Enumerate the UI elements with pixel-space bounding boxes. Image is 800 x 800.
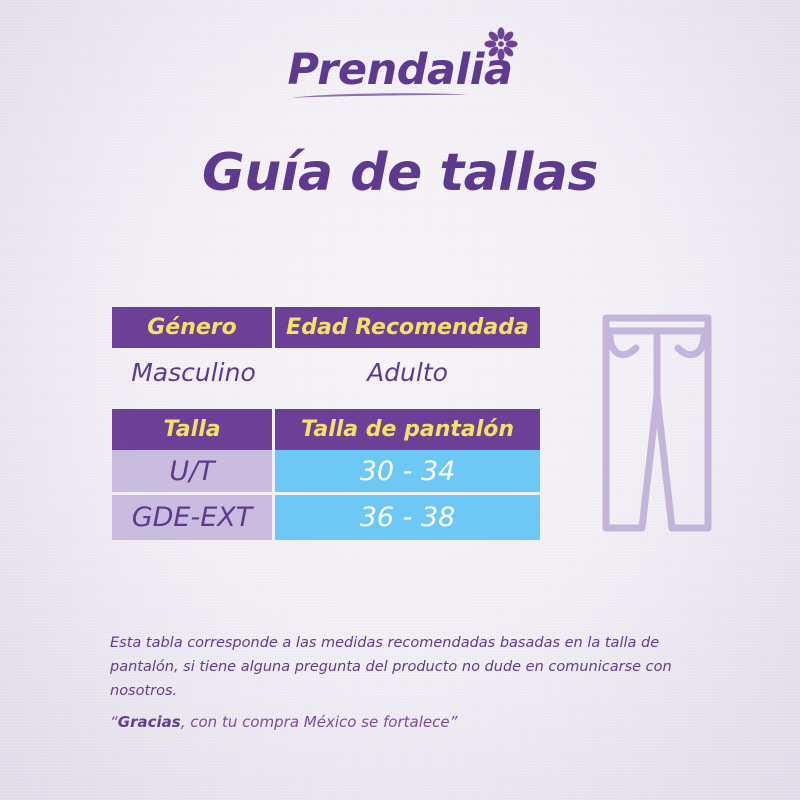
swoosh-underline-icon xyxy=(290,91,470,100)
note-text: Esta tabla corresponde a las medidas rec… xyxy=(110,632,710,704)
table-row-gender-values: Masculino Adulto xyxy=(112,348,540,397)
tagline-rest: , con tu compra México se fortalece xyxy=(181,713,450,731)
tagline-open-quote: “ xyxy=(110,713,118,731)
table-section-spacer xyxy=(112,397,540,409)
brand-logo: Prendalia xyxy=(0,48,800,93)
header-talla: Talla xyxy=(112,409,275,450)
page-title: Guía de tallas xyxy=(0,143,800,203)
value-edad: Adulto xyxy=(275,348,540,397)
tagline-strong: Gracias xyxy=(118,713,181,731)
tagline: “Gracias, con tu compra México se fortal… xyxy=(110,713,710,731)
flower-icon xyxy=(484,27,518,61)
tagline-close-quote: ” xyxy=(450,713,458,731)
header-edad-recomendada: Edad Recomendada xyxy=(275,307,540,348)
header-genero: Género xyxy=(112,307,275,348)
size-table: Género Edad Recomendada Masculino Adulto… xyxy=(112,307,540,540)
pants-icon xyxy=(596,300,718,535)
cell-pantalon-1: 36 - 38 xyxy=(275,495,540,540)
brand-name: Prendalia xyxy=(288,45,513,95)
table-row: GDE-EXT 36 - 38 xyxy=(112,495,540,540)
cell-talla-0: U/T xyxy=(112,450,275,495)
table-row: U/T 30 - 34 xyxy=(112,450,540,495)
value-genero: Masculino xyxy=(112,348,275,397)
cell-talla-1: GDE-EXT xyxy=(112,495,275,540)
size-guide-page: Prendalia Guía de tallas xyxy=(0,0,800,800)
table-header-row-size: Talla Talla de pantalón xyxy=(112,409,540,450)
header-talla-pantalon: Talla de pantalón xyxy=(275,409,540,450)
logo-wrapper: Prendalia xyxy=(288,48,513,93)
table-header-row-gender: Género Edad Recomendada xyxy=(112,307,540,348)
cell-pantalon-0: 30 - 34 xyxy=(275,450,540,495)
